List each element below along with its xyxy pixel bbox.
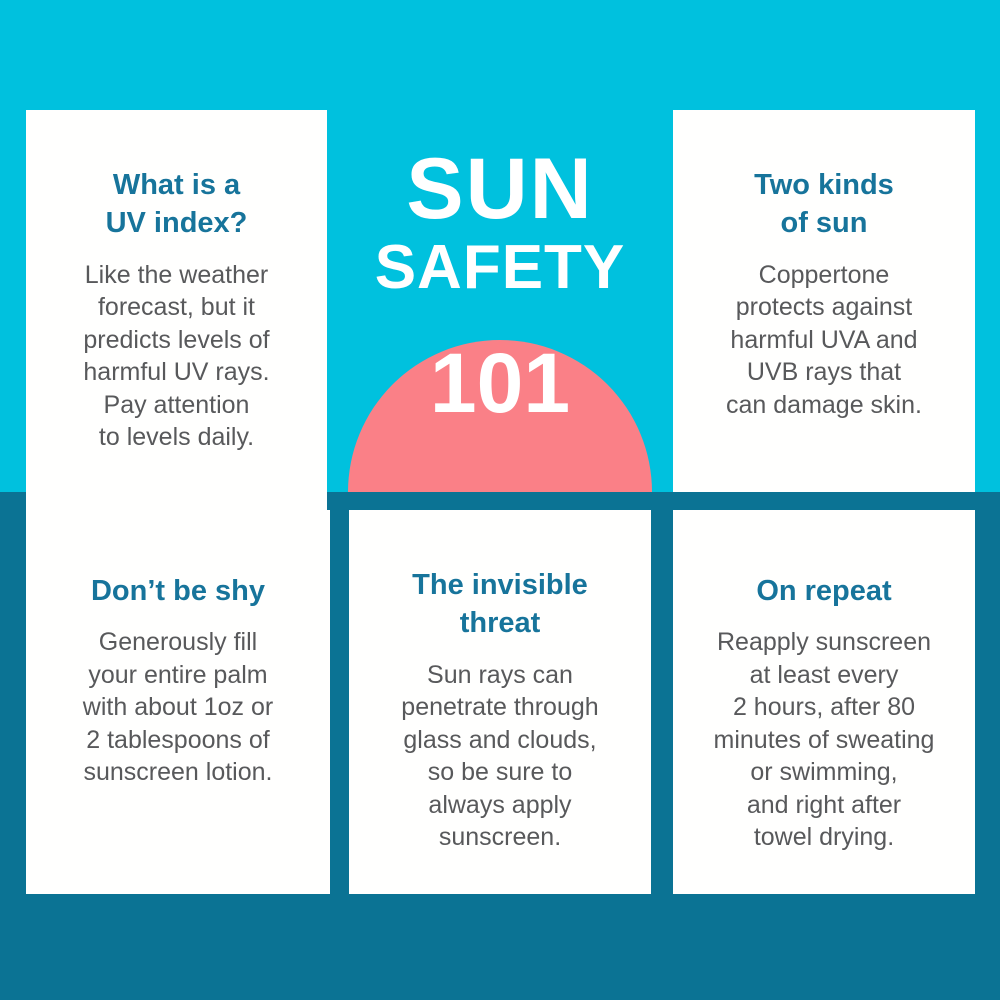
card-title: Two kinds of sun	[754, 166, 894, 243]
card-uv-index: What is a UV index? Like the weather for…	[26, 110, 327, 530]
card-title: On repeat	[756, 572, 891, 610]
card-body: Generously fill your entire palm with ab…	[83, 626, 273, 789]
card-invisible-threat: The invisible threat Sun rays can penetr…	[349, 510, 651, 894]
card-body: Reapply sunscreen at least every 2 hours…	[714, 626, 935, 854]
card-on-repeat: On repeat Reapply sunscreen at least eve…	[673, 510, 975, 894]
card-body: Sun rays can penetrate through glass and…	[401, 659, 598, 854]
hero-badge-101: 101	[350, 341, 650, 425]
card-body: Coppertone protects against harmful UVA …	[726, 259, 922, 422]
card-dont-be-shy: Don’t be shy Generously fill your entire…	[26, 510, 330, 894]
card-title: Don’t be shy	[91, 572, 265, 610]
card-title: The invisible threat	[412, 566, 588, 643]
hero-line-sun: SUN	[350, 150, 650, 229]
card-title: What is a UV index?	[106, 166, 248, 243]
hero-line-safety: SAFETY	[350, 229, 650, 307]
sun-safety-infographic: SUN SAFETY 101 What is a UV index? Like …	[0, 0, 1000, 1000]
hero-title-block: SUN SAFETY 101	[350, 150, 650, 425]
card-two-kinds-of-sun: Two kinds of sun Coppertone protects aga…	[673, 110, 975, 492]
card-body: Like the weather forecast, but it predic…	[83, 259, 269, 454]
